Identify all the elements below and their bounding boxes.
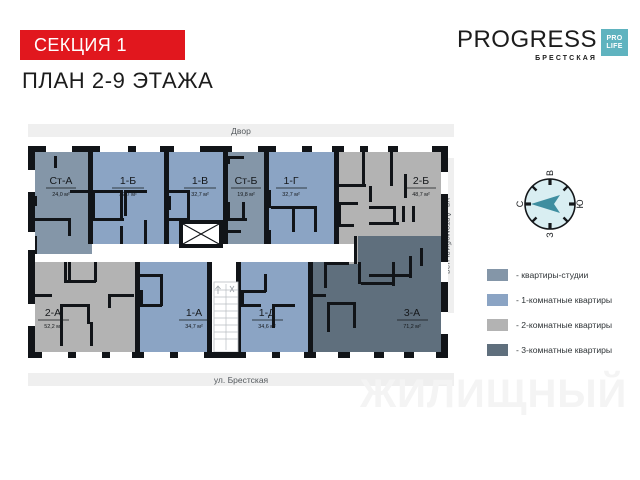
legend-swatch-three-room: [487, 344, 508, 356]
unit-name-1-b: 1-Б: [120, 175, 136, 187]
legend-label-three-room: - 3-комнатные квартиры: [516, 345, 612, 355]
floor-plan-diagram: Двор ул. Брестская ул. Автомобильная: [24, 124, 454, 386]
unit-name-st-a: Ст-А: [50, 175, 73, 187]
unit-name-2-b: 2-Б: [413, 175, 429, 187]
brand-logo: PROGRESS БРЕСТСКАЯ PRO LIFE: [457, 28, 628, 62]
unit-name-2-a: 2-А: [45, 307, 61, 319]
compass-label-north: С: [515, 200, 525, 207]
legend-swatch-studio: [487, 269, 508, 281]
pro-life-badge: PRO LIFE: [601, 29, 628, 56]
window-openings-top: [46, 146, 432, 152]
compass-label-south: Ю: [575, 199, 585, 208]
street-label-courtyard: Двор: [28, 124, 454, 137]
unit-area-3-a: 71,2 м²: [403, 324, 421, 330]
unit-fill-1-d[interactable]: [240, 262, 312, 358]
unit-area-1-d: 34,6 м²: [258, 324, 276, 330]
unit-area-1-a: 34,7 м²: [185, 324, 203, 330]
st-a-notch: [34, 254, 92, 262]
unit-name-1-a: 1-А: [186, 307, 202, 319]
page-title: ПЛАН 2-9 ЭТАЖА: [22, 68, 213, 94]
unit-fill-1-g[interactable]: [268, 152, 338, 244]
unit-area-2-b: 48,7 м²: [412, 192, 430, 198]
legend-item-studio: - квартиры-студии: [487, 262, 637, 287]
legend-label-studio: - квартиры-студии: [516, 270, 588, 280]
street-label-courtyard-text: Двор: [231, 126, 251, 136]
unit-name-st-b: Ст-Б: [235, 175, 258, 187]
legend-swatch-one-room: [487, 294, 508, 306]
unit-name-3-a: 3-А: [404, 307, 420, 319]
floor-plan-svg: Ст-А 24,0 м² 1-Б 32,7 м² 1-В 32,7 м² Ст-…: [24, 144, 452, 366]
compass-label-west: З: [545, 232, 555, 237]
logo-main-label: PROGRESS: [457, 28, 597, 52]
pro-life-line2: LIFE: [606, 43, 622, 51]
unit-name-1-g: 1-Г: [283, 175, 298, 187]
section-badge-label: СЕКЦИЯ 1: [20, 35, 127, 56]
unit-area-2-a: 52,2 м²: [44, 324, 62, 330]
unit-area-1-b: 32,7 м²: [119, 192, 137, 198]
legend-label-two-room: - 2-комнатные квартиры: [516, 320, 612, 330]
elevator-core[interactable]: [179, 220, 223, 248]
unit-area-st-b: 19,8 м²: [237, 192, 255, 198]
unit-fill-3-a-upper[interactable]: [354, 236, 442, 264]
street-label-brestskaya: ул. Брестская: [28, 373, 454, 386]
legend-swatch-two-room: [487, 319, 508, 331]
legend-item-two-room: - 2-комнатные квартиры: [487, 312, 637, 337]
legend-item-one-room: - 1-комнатные квартиры: [487, 287, 637, 312]
legend: - квартиры-студии - 1-комнатные квартиры…: [487, 262, 637, 362]
unit-area-1-g: 32,7 м²: [282, 192, 300, 198]
compass-label-east: В: [545, 170, 555, 176]
legend-item-three-room: - 3-комнатные квартиры: [487, 337, 637, 362]
pro-life-line1: PRO: [606, 35, 622, 43]
stairwell[interactable]: [214, 282, 238, 352]
unit-name-1-d: 1-Д: [259, 307, 275, 319]
legend-label-one-room: - 1-комнатные квартиры: [516, 295, 612, 305]
unit-area-1-v: 32,7 м²: [191, 192, 209, 198]
street-label-brestskaya-text: ул. Брестская: [214, 375, 268, 385]
floor-plan-page: СЕКЦИЯ 1 ПЛАН 2-9 ЭТАЖА PROGRESS БРЕСТСК…: [0, 0, 640, 480]
logo-sub-label: БРЕСТСКАЯ: [535, 55, 597, 62]
section-badge: СЕКЦИЯ 1: [20, 30, 185, 60]
unit-name-1-v: 1-В: [192, 175, 208, 187]
unit-fill-1-b[interactable]: [92, 152, 168, 244]
unit-area-st-a: 24,0 м²: [52, 192, 70, 198]
compass-rose: С В Ю З: [508, 162, 592, 246]
logo-text: PROGRESS БРЕСТСКАЯ: [457, 28, 597, 62]
